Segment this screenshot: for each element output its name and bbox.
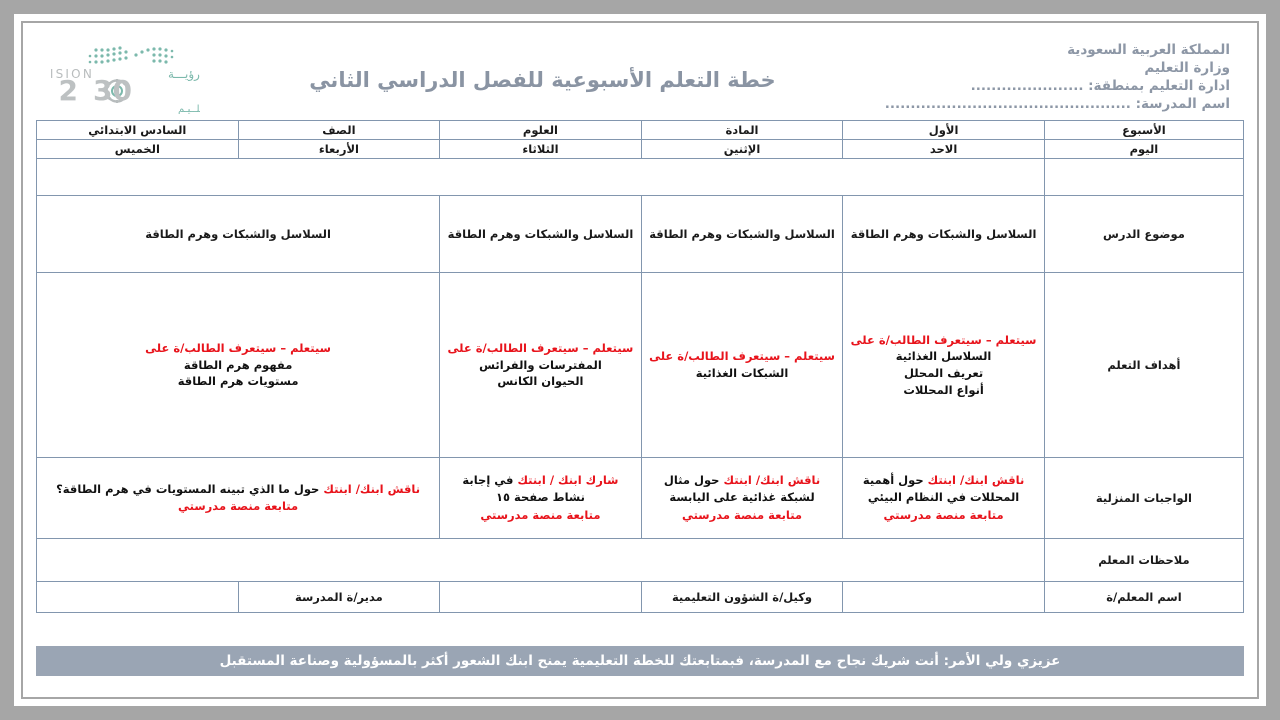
day-sunday: الاحد bbox=[843, 140, 1045, 159]
ministry-block: المملكة العربية السعودية وزارة التعليم ا… bbox=[885, 38, 1230, 114]
week-label: الأسبوع bbox=[1044, 121, 1243, 140]
education-dept-line: ادارة التعليم بمنطقة: ..................… bbox=[885, 78, 1230, 96]
objective-item: أنواع المحللات bbox=[849, 382, 1038, 399]
objective-item: مستويات هرم الطاقة bbox=[43, 373, 433, 390]
page-header: المملكة العربية السعودية وزارة التعليم ا… bbox=[36, 34, 1244, 118]
country-line: المملكة العربية السعودية bbox=[885, 42, 1230, 60]
objective-item: مفهوم هرم الطاقة bbox=[43, 357, 433, 374]
spacer-row bbox=[37, 159, 1244, 196]
homework-row: الواجبات المنزلية ناقش ابنك/ ابنتك حول أ… bbox=[37, 458, 1244, 539]
homework-lead: ناقش ابنك/ ابنتك bbox=[928, 473, 1025, 487]
objectives-label: أهداف التعلم bbox=[1044, 273, 1243, 458]
objective-item: تعريف المحلل bbox=[849, 365, 1038, 382]
objectives-heading: سيتعلم – سيتعرف الطالب/ة على bbox=[648, 348, 837, 365]
objective-item: الشبكات الغذائية bbox=[648, 365, 837, 382]
day-thursday: الخميس bbox=[37, 140, 239, 159]
homework-follow: متابعة منصة مدرستي bbox=[849, 507, 1038, 524]
objectives-heading: سيتعلم – سيتعرف الطالب/ة على bbox=[446, 340, 635, 357]
teacher-name-value[interactable] bbox=[843, 582, 1045, 613]
homework-sunday[interactable]: ناقش ابنك/ ابنتك حول أهمية المحللات في ا… bbox=[843, 458, 1045, 539]
topic-monday[interactable]: السلاسل والشبكات وهرم الطاقة bbox=[641, 196, 843, 273]
homework-wednesday-thursday[interactable]: ناقش ابنك/ ابنتك حول ما الذي تبينه المست… bbox=[37, 458, 440, 539]
topic-wednesday-thursday[interactable]: السلاسل والشبكات وهرم الطاقة bbox=[37, 196, 440, 273]
day-row: اليوم الاحد الإثنين الثلاثاء الأربعاء ال… bbox=[37, 140, 1244, 159]
objectives-monday[interactable]: سيتعلم – سيتعرف الطالب/ة على الشبكات الغ… bbox=[641, 273, 843, 458]
grade-value[interactable]: السادس الابتدائي bbox=[37, 121, 239, 140]
svg-text:30: 30 bbox=[93, 74, 132, 107]
notes-label: ملاحظات المعلم bbox=[1044, 539, 1243, 582]
grade-label: الصف bbox=[238, 121, 440, 140]
teacher-name-label: اسم المعلم/ة bbox=[1044, 582, 1243, 613]
objectives-sunday[interactable]: سيتعلم – سيتعرف الطالب/ة على السلاسل الغ… bbox=[843, 273, 1045, 458]
objective-item: السلاسل الغذائية bbox=[849, 348, 1038, 365]
topic-label: موضوع الدرس bbox=[1044, 196, 1243, 273]
subject-label: المادة bbox=[641, 121, 843, 140]
affairs-deputy-label: وكيل/ة الشؤون التعليمية bbox=[641, 582, 843, 613]
objectives-row: أهداف التعلم سيتعلم – سيتعرف الطالب/ة عل… bbox=[37, 273, 1244, 458]
school-name-line: اسم المدرسة: ...........................… bbox=[885, 96, 1230, 114]
homework-tuesday[interactable]: شارك ابنك / ابنتك في إجابة نشاط صفحة ١٥ … bbox=[440, 458, 642, 539]
homework-lead: شارك ابنك / ابنتك bbox=[517, 473, 618, 487]
meta-row: الأسبوع الأول المادة العلوم الصف السادس … bbox=[37, 121, 1244, 140]
frame-white-ring: المملكة العربية السعودية وزارة التعليم ا… bbox=[14, 14, 1266, 706]
homework-body: حول ما الذي تبينه المستويات في هرم الطاق… bbox=[56, 482, 319, 496]
spacer-cell-wide bbox=[37, 159, 1045, 196]
homework-follow: متابعة منصة مدرستي bbox=[648, 507, 837, 524]
homework-follow: متابعة منصة مدرستي bbox=[43, 498, 433, 515]
week-value[interactable]: الأول bbox=[843, 121, 1045, 140]
objectives-heading: سيتعلم – سيتعرف الطالب/ة على bbox=[849, 332, 1038, 349]
spacer-cell bbox=[1044, 159, 1243, 196]
principal-value[interactable] bbox=[37, 582, 239, 613]
vision-2030-logo-icon: VISION رؤيـــة 2 30 وزارة bbox=[50, 38, 200, 114]
ministry-line: وزارة التعليم bbox=[885, 60, 1230, 78]
notes-row: ملاحظات المعلم bbox=[37, 539, 1244, 582]
homework-label: الواجبات المنزلية bbox=[1044, 458, 1243, 539]
homework-lead: ناقش ابنك/ ابنتك bbox=[323, 482, 420, 496]
objectives-wednesday-thursday[interactable]: سيتعلم – سيتعرف الطالب/ة على مفهوم هرم ا… bbox=[37, 273, 440, 458]
day-wednesday: الأربعاء bbox=[238, 140, 440, 159]
topic-sunday[interactable]: السلاسل والشبكات وهرم الطاقة bbox=[843, 196, 1045, 273]
signature-row: اسم المعلم/ة وكيل/ة الشؤون التعليمية مدي… bbox=[37, 582, 1244, 613]
objective-item: الحيوان الكانس bbox=[446, 373, 635, 390]
objectives-tuesday[interactable]: سيتعلم – سيتعرف الطالب/ة على المفترسات و… bbox=[440, 273, 642, 458]
subject-value[interactable]: العلوم bbox=[440, 121, 642, 140]
principal-label: مدير/ة المدرسة bbox=[238, 582, 440, 613]
svg-text:2: 2 bbox=[59, 74, 78, 107]
svg-text:وزارة الــتــعــلــيـم: وزارة الــتــعــلــيـم bbox=[178, 104, 200, 114]
weekly-plan-table: الأسبوع الأول المادة العلوم الصف السادس … bbox=[36, 120, 1244, 613]
objectives-heading: سيتعلم – سيتعرف الطالب/ة على bbox=[43, 340, 433, 357]
notes-value[interactable] bbox=[37, 539, 1045, 582]
document-frame: المملكة العربية السعودية وزارة التعليم ا… bbox=[0, 0, 1280, 720]
day-monday: الإثنين bbox=[641, 140, 843, 159]
vision-2030-logo: VISION رؤيـــة 2 30 وزارة bbox=[50, 38, 200, 114]
svg-text:رؤيـــة: رؤيـــة bbox=[168, 67, 200, 82]
frame-gray-ring: المملكة العربية السعودية وزارة التعليم ا… bbox=[21, 21, 1259, 699]
parent-message-banner: عزيزي ولي الأمر: أنت شريك نجاح مع المدرس… bbox=[36, 646, 1244, 676]
homework-lead: ناقش ابنك/ ابنتك bbox=[723, 473, 820, 487]
affairs-deputy-value[interactable] bbox=[440, 582, 642, 613]
topic-row: موضوع الدرس السلاسل والشبكات وهرم الطاقة… bbox=[37, 196, 1244, 273]
document-page: المملكة العربية السعودية وزارة التعليم ا… bbox=[28, 28, 1252, 692]
day-label: اليوم bbox=[1044, 140, 1243, 159]
topic-tuesday[interactable]: السلاسل والشبكات وهرم الطاقة bbox=[440, 196, 642, 273]
homework-monday[interactable]: ناقش ابنك/ ابنتك حول مثال لشبكة غذائية ع… bbox=[641, 458, 843, 539]
page-title: خطة التعلم الأسبوعية للفصل الدراسي الثان… bbox=[200, 38, 885, 92]
homework-follow: متابعة منصة مدرستي bbox=[446, 507, 635, 524]
objective-item: المفترسات والفرائس bbox=[446, 357, 635, 374]
day-tuesday: الثلاثاء bbox=[440, 140, 642, 159]
